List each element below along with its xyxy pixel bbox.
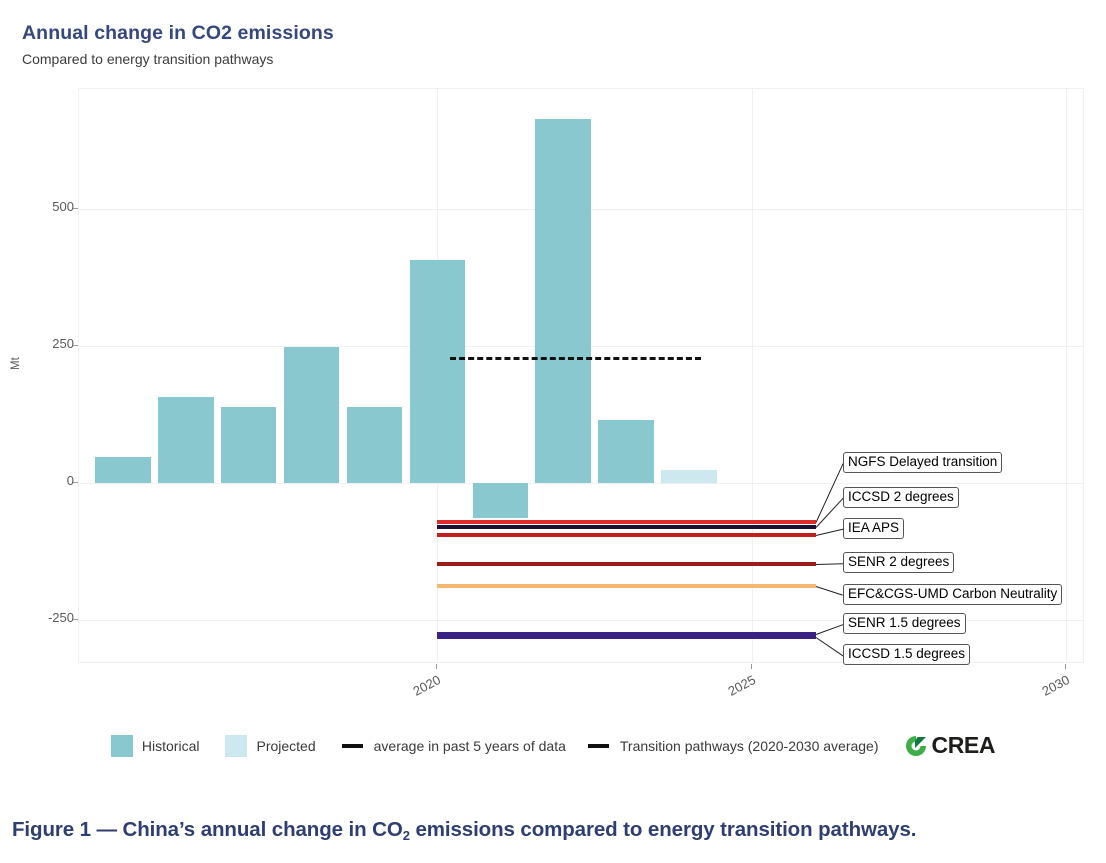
pathway-label-1: ICCSD 2 degrees [843,487,959,508]
bar-2017 [221,407,276,484]
pathway-line-0 [437,520,816,524]
pathways-line-swatch [588,744,609,748]
pathway-line-6 [437,635,816,639]
pathway-leader-2 [816,529,843,536]
crea-wordmark: CREA [932,732,996,759]
legend-item-average: average in past 5 years of data [342,738,588,754]
bar-2021 [473,483,528,518]
legend-item-historical: Historical [111,735,226,757]
pathway-label-2: IEA APS [843,518,904,539]
average-5yr-line [450,357,702,360]
figure-caption: Figure 1 — China’s annual change in CO2 … [12,818,1097,842]
gridline-x-2030 [1066,89,1067,662]
x-tick-mark-2020 [436,664,437,669]
historical-swatch [111,735,133,757]
caption-subscript: 2 [403,828,410,843]
bar-2019 [347,407,402,484]
caption-prefix: Figure 1 — China’s annual change in CO [12,818,403,841]
x-tick-label-2025: 2025 [714,672,758,705]
crea-logo: CREA [905,732,996,759]
pathway-label-0: NGFS Delayed transition [843,452,1002,473]
pathway-leader-3 [816,563,843,565]
bar-2024 [661,470,716,484]
pathway-leader-6 [816,637,844,656]
bar-2022 [535,119,590,483]
pathway-leader-4 [816,586,843,596]
page-subtitle: Compared to energy transition pathways [22,51,273,67]
pathway-label-4: EFC&CGS-UMD Carbon Neutrality [843,584,1062,605]
chart-legend: Historical Projected average in past 5 y… [0,732,1106,759]
legend-label-pathways: Transition pathways (2020-2030 average) [620,738,879,754]
pathway-line-1 [437,525,816,529]
legend-item-pathways: Transition pathways (2020-2030 average) [588,738,901,754]
plot-area [78,88,1084,663]
page-title: Annual change in CO2 emissions [22,22,334,45]
y-tick-label-0: 0 [0,473,74,488]
projected-swatch [225,735,247,757]
pathway-line-3 [437,562,816,566]
y-axis-label: Mt [10,357,22,370]
crea-mark-icon [905,735,927,757]
bar-2016 [158,397,213,484]
bar-2015 [95,457,150,483]
pathway-leader-5 [816,624,843,635]
pathway-label-6: ICCSD 1.5 degrees [843,644,970,665]
caption-suffix: emissions compared to energy transition … [410,818,917,841]
legend-item-projected: Projected [225,735,341,757]
x-tick-label-2030: 2030 [1028,672,1072,705]
y-tick-label-500: 500 [0,199,74,214]
y-tick-label-250: 250 [0,336,74,351]
gridline-y-0 [79,483,1083,484]
bar-2023 [598,420,653,483]
pathway-line-4 [437,584,816,588]
average-line-swatch [342,744,363,748]
bar-2020 [410,260,465,483]
gridline-x-2025 [752,89,753,662]
x-tick-mark-2030 [1065,664,1066,669]
legend-label-projected: Projected [256,738,315,754]
legend-label-historical: Historical [142,738,200,754]
bar-2018 [284,347,339,483]
x-tick-label-2020: 2020 [399,672,443,705]
y-tick-label--250: -250 [0,610,74,625]
x-tick-mark-2025 [751,664,752,669]
pathway-label-5: SENR 1.5 degrees [843,613,966,634]
pathway-label-3: SENR 2 degrees [843,552,954,573]
pathway-line-2 [437,533,816,537]
legend-label-average: average in past 5 years of data [374,738,566,754]
